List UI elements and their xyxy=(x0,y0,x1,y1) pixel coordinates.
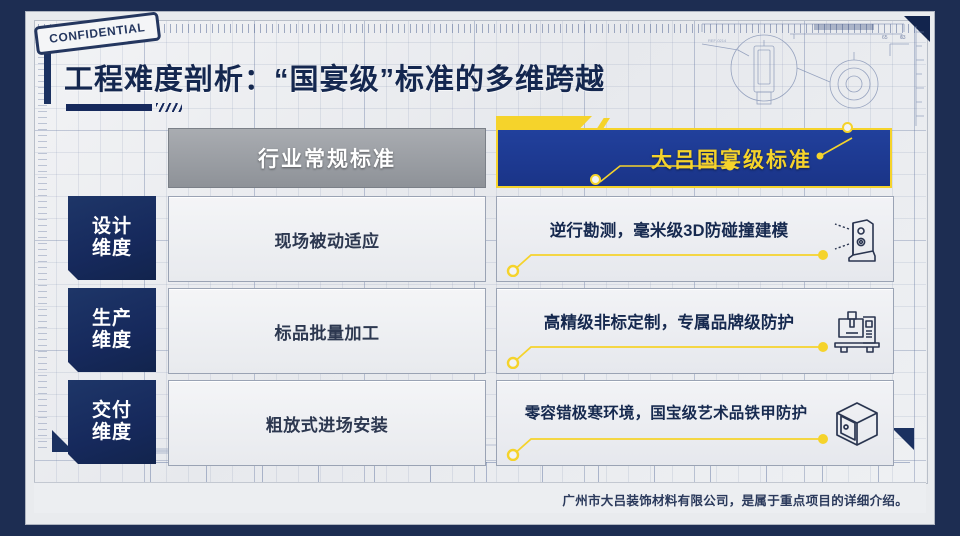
crate-box-icon xyxy=(829,395,885,451)
blueprint-decoration: REF-0214 65 63 xyxy=(694,6,944,134)
row-dimension-line1: 设计 xyxy=(92,216,132,238)
comparison-table: 行业常规标准 大吕国宴级标准 xyxy=(68,128,892,448)
table-row: 交付 维度 粗放式进场安装 零容错极寒环境，国宝级艺术品铁甲防护 xyxy=(68,380,892,464)
row-dimension-tag: 生产 维度 xyxy=(68,288,156,372)
row-dimension-line2: 维度 xyxy=(92,238,132,260)
header-node-right xyxy=(842,122,853,133)
header-node-left xyxy=(590,174,601,185)
row-dimension-line1: 生产 xyxy=(92,308,132,330)
cell-dalu-text: 逆行勘测，毫米级3D防碰撞建模 xyxy=(509,217,829,241)
cell-lead-line xyxy=(503,241,837,277)
header-dalu-standard: 大吕国宴级标准 xyxy=(496,128,892,188)
header-node-lines xyxy=(498,130,890,186)
footer-note: 广州市大吕装饰材料有限公司，是属于重点项目的详细介绍。 xyxy=(562,490,908,509)
3d-scanner-icon xyxy=(829,211,885,267)
cell-dalu-standard: 逆行勘测，毫米级3D防碰撞建模 xyxy=(496,196,894,282)
blueprint-scale-a: 65 xyxy=(882,35,888,41)
title-slash-accent xyxy=(156,103,182,112)
title-underline xyxy=(66,104,152,111)
page-title: 工程难度剖析：“国宴级”标准的多维跨越 xyxy=(64,56,605,98)
cnc-machine-icon xyxy=(829,303,885,359)
blueprint-scale-b: 63 xyxy=(900,35,906,41)
cell-lead-line xyxy=(503,333,837,369)
svg-text:REF-0214: REF-0214 xyxy=(708,38,727,43)
confidential-stamp-label: CONFIDENTIAL xyxy=(48,20,146,46)
row-dimension-line1: 交付 xyxy=(92,400,132,422)
slide-root: REF-0214 65 63 SECTION A-A DET.04 CONFID… xyxy=(0,0,960,536)
cell-dalu-standard: 高精级非标定制，专属品牌级防护 xyxy=(496,288,894,374)
cell-industry-standard: 标品批量加工 xyxy=(168,288,486,374)
cell-industry-standard: 粗放式进场安装 xyxy=(168,380,486,466)
cell-lead-line xyxy=(503,425,837,461)
table-header-row: 行业常规标准 大吕国宴级标准 xyxy=(68,128,892,186)
row-dimension-tag: 交付 维度 xyxy=(68,380,156,464)
header-dalu-standard-wrap: 大吕国宴级标准 xyxy=(492,116,892,186)
header-industry-standard: 行业常规标准 xyxy=(168,128,486,188)
cell-industry-standard: 现场被动适应 xyxy=(168,196,486,282)
row-dimension-line2: 维度 xyxy=(92,422,132,444)
table-row: 生产 维度 标品批量加工 高精级非标定制，专属品牌级防护 xyxy=(68,288,892,372)
row-dimension-tag: 设计 维度 xyxy=(68,196,156,280)
corner-triangle-bottom-right xyxy=(892,428,914,450)
cell-dalu-text: 高精级非标定制，专属品牌级防护 xyxy=(509,309,829,333)
cell-dalu-text: 零容错极寒环境，国宝级艺术品铁甲防护 xyxy=(501,401,831,423)
row-dimension-line2: 维度 xyxy=(92,330,132,352)
table-row: 设计 维度 现场被动适应 逆行勘测，毫米级3D防碰撞建模 xyxy=(68,196,892,280)
cell-dalu-standard: 零容错极寒环境，国宝级艺术品铁甲防护 xyxy=(496,380,894,466)
